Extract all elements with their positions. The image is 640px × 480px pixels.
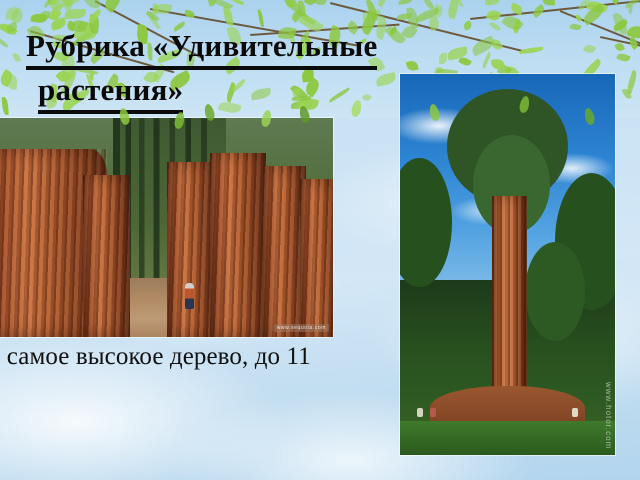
sequoia-trunk (300, 179, 333, 337)
title-line-2: растения» (38, 70, 546, 114)
slide-title: Рубрика «Удивительные растения» (26, 26, 546, 114)
visitor-figure (572, 408, 578, 417)
hiker-figure (185, 283, 194, 309)
visitor-figure (430, 408, 436, 417)
undergrowth (400, 421, 615, 455)
slide-caption: - самое высокое дерево, до 11 (0, 343, 412, 371)
sequoia-trunk (210, 153, 267, 337)
title-line-1-text: Рубрика «Удивительные (26, 26, 377, 70)
title-line-2-text: растения» (38, 70, 183, 114)
visitor-figure (417, 408, 423, 417)
tall-sequoia-photo: www.hotor.com (400, 74, 615, 455)
side-conifer (525, 242, 585, 341)
sequoia-grove-photo: www.sequoia.com (0, 118, 333, 337)
leaf (485, 0, 499, 4)
slide-canvas: www.sequoia.com www.hotor.com Рубрика «У… (0, 0, 640, 480)
title-line-1: Рубрика «Удивительные (26, 26, 546, 70)
sequoia-trunk (83, 175, 130, 337)
